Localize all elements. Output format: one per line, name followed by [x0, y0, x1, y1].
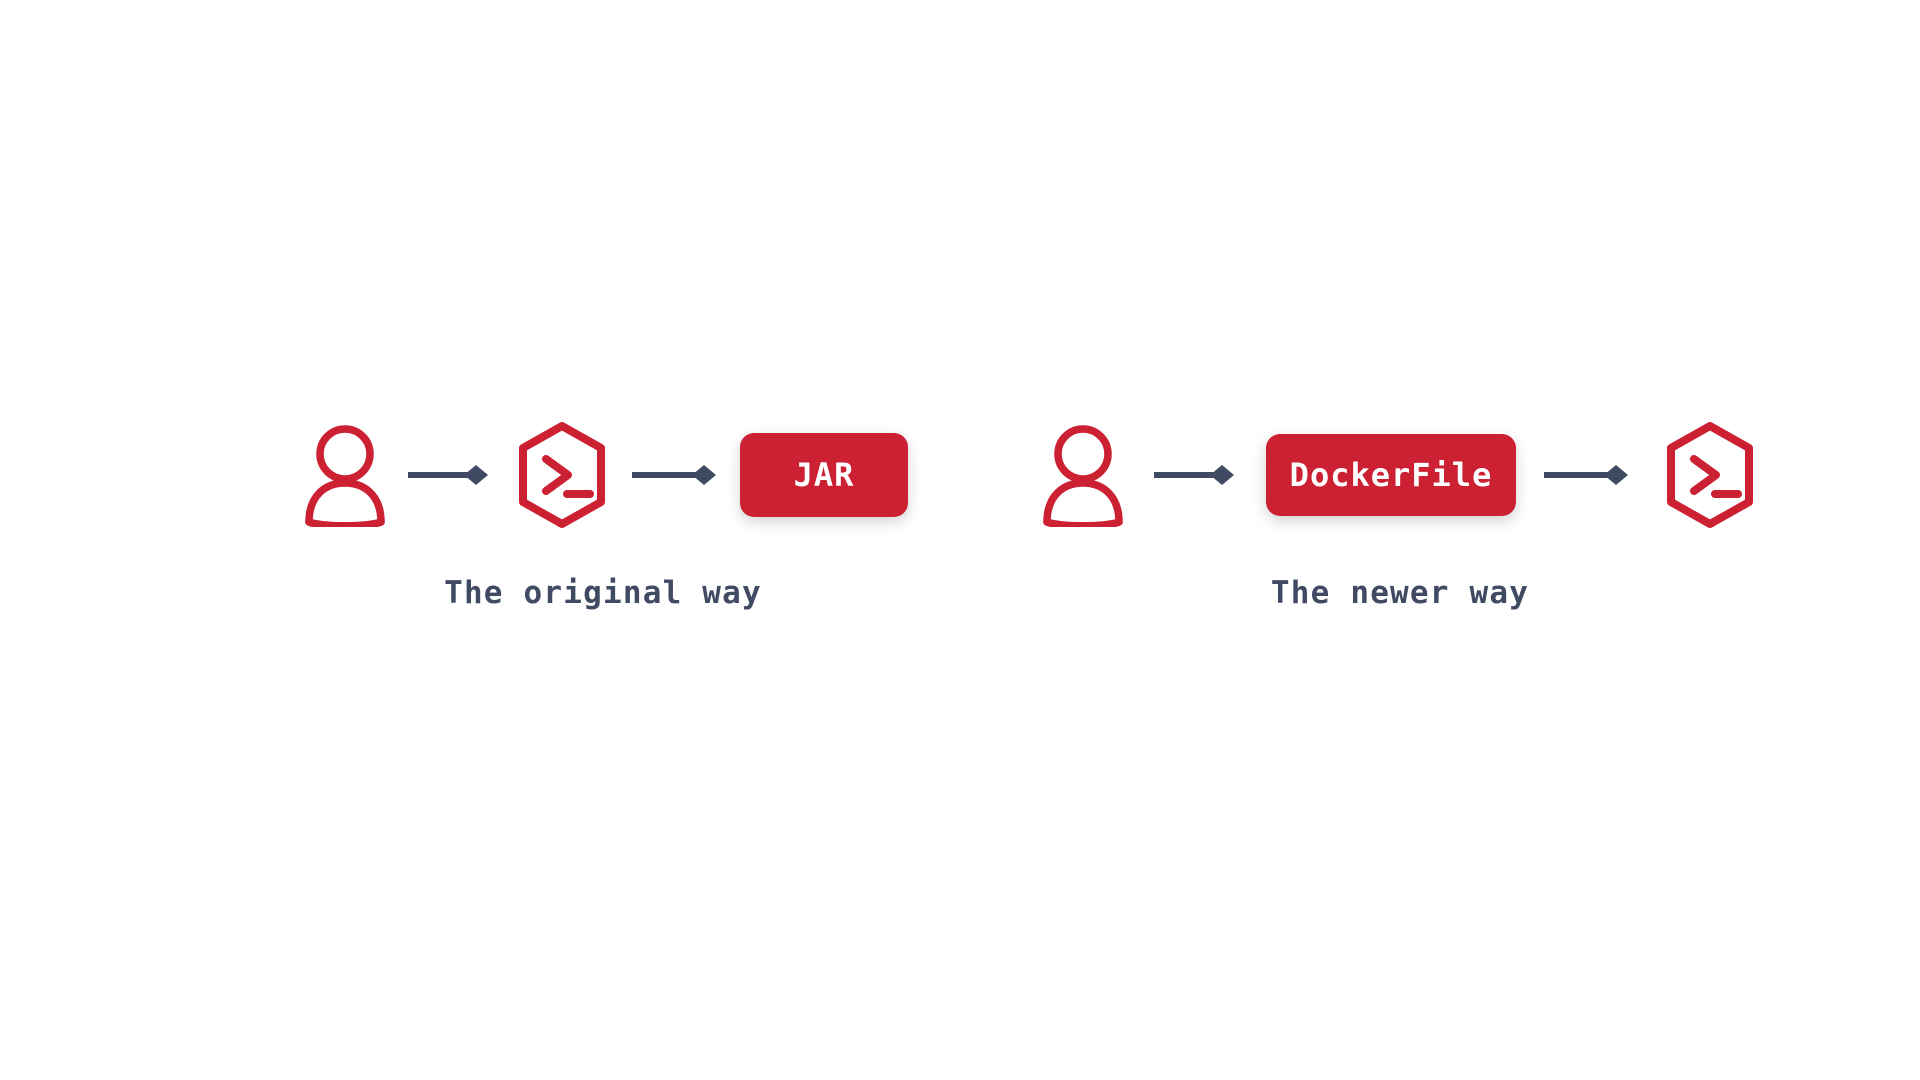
flow-group-newer: DockerFile The newer way [1030, 400, 1770, 609]
arrow-right-icon [406, 463, 494, 487]
diagram-canvas: JAR The original way [0, 0, 1920, 1080]
arrow-right-icon [1542, 463, 1634, 487]
caption-original-way: The original way [444, 578, 762, 609]
person-icon [1040, 423, 1126, 527]
dockerfile-artifact-box[interactable]: DockerFile [1266, 434, 1516, 516]
flow-row-newer: DockerFile [1040, 400, 1760, 550]
terminal-hexagon-icon [1660, 421, 1760, 529]
terminal-hexagon-icon [512, 421, 612, 529]
caption-newer-way: The newer way [1271, 578, 1529, 609]
jar-artifact-box[interactable]: JAR [740, 433, 908, 517]
person-icon [302, 423, 388, 527]
arrow-right-icon [1152, 463, 1240, 487]
flow-row-original: JAR [302, 400, 908, 550]
arrow-right-icon [630, 463, 722, 487]
flow-group-original: JAR The original way [270, 400, 940, 609]
